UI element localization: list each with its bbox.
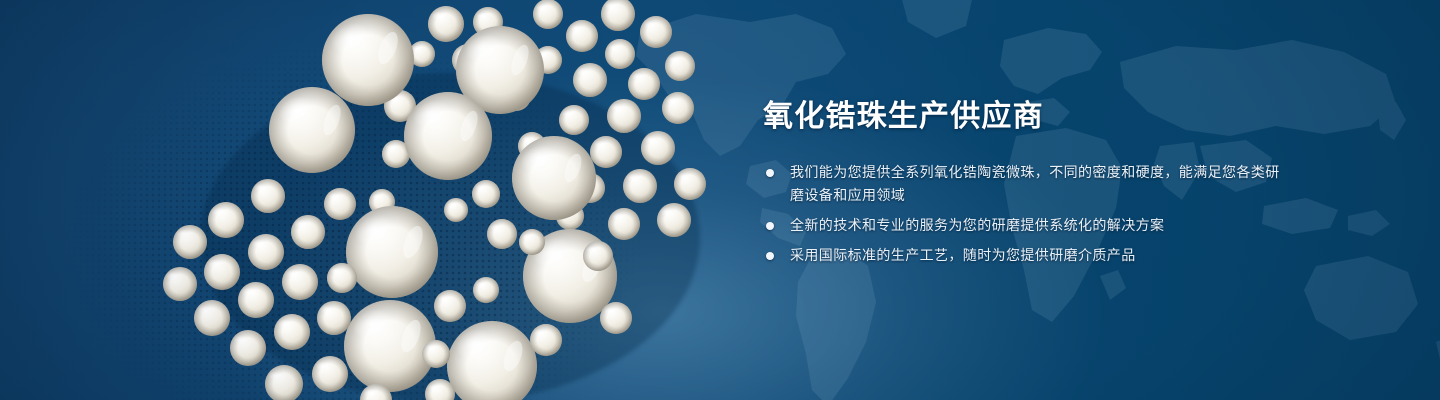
list-item-label: 我们能为您提供全系列氧化锆陶瓷微珠，不同的密度和硬度，能满足您各类研磨设备和应用… <box>790 164 1280 203</box>
list-item-label: 采用国际标准的生产工艺，随时为您提供研磨介质产品 <box>790 247 1136 263</box>
filled-circle-icon <box>766 222 774 230</box>
list-item: 我们能为您提供全系列氧化锆陶瓷微珠，不同的密度和硬度，能满足您各类研磨设备和应用… <box>763 161 1283 207</box>
list-item: 采用国际标准的生产工艺，随时为您提供研磨介质产品 <box>763 244 1283 267</box>
list-item: 全新的技术和专业的服务为您的研磨提供系统化的解决方案 <box>763 214 1283 237</box>
banner-copy: 氧化锆珠生产供应商 我们能为您提供全系列氧化锆陶瓷微珠，不同的密度和硬度，能满足… <box>763 100 1283 267</box>
list-item-label: 全新的技术和专业的服务为您的研磨提供系统化的解决方案 <box>790 217 1164 233</box>
feature-list: 我们能为您提供全系列氧化锆陶瓷微珠，不同的密度和硬度，能满足您各类研磨设备和应用… <box>763 161 1283 267</box>
product-hero-banner: 氧化锆珠生产供应商 我们能为您提供全系列氧化锆陶瓷微珠，不同的密度和硬度，能满足… <box>0 0 1440 400</box>
page-title: 氧化锆珠生产供应商 <box>763 100 1283 135</box>
filled-circle-icon <box>766 169 774 177</box>
filled-circle-icon <box>766 252 774 260</box>
